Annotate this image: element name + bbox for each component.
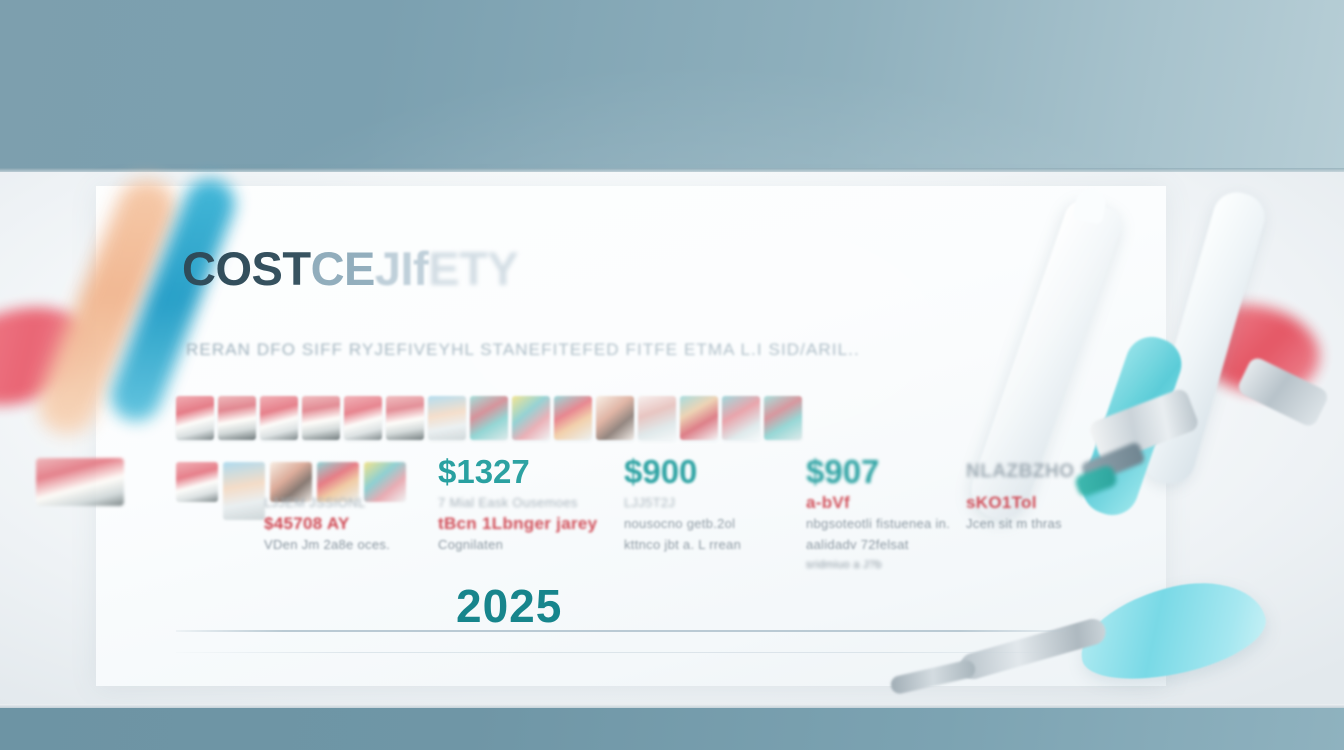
page-title-faded-2: JIf [375, 242, 428, 295]
cost-column-4-price: NLAZBZHO [966, 452, 1096, 492]
cost-column-1: $13277 Mial Eask OusemoestBcn 1Lbnger ja… [438, 452, 618, 555]
cost-column-left-caption-3: VDen Jm 2a8e oces. [264, 534, 440, 555]
mixed-thumb-9-icon [512, 396, 550, 440]
page-title-solid: COST [182, 242, 311, 295]
soft-light-overlay [0, 0, 1344, 750]
cost-column-3-caption-2: nbgsoteotli fistuenea in. [806, 513, 976, 534]
cost-column-1-price: $1327 [438, 452, 618, 492]
cost-columns: LJJEM JSSIONL$45708 AYVDen Jm 2a8e oces.… [176, 452, 1076, 622]
cost-column-left: LJJEM JSSIONL$45708 AYVDen Jm 2a8e oces. [264, 452, 440, 555]
divider-primary [176, 630, 1066, 632]
cost-column-2-caption-3: kttnco jbt a. L rrean [624, 534, 804, 555]
lesion-thumb-13-icon [680, 396, 718, 440]
cost-column-3-caption-4: sridmiuo a J?b [806, 555, 976, 576]
cost-column-2-price: $900 [624, 452, 804, 492]
gum-thumb-2-icon [218, 396, 256, 440]
tool-thumb-11-icon [596, 396, 634, 440]
cost-column-1-caption-2: tBcn 1Lbnger jarey [438, 513, 618, 534]
cost-column-2-caption-1: LJJ5T2J [624, 492, 804, 513]
gum-thumb-4-icon [302, 396, 340, 440]
page-title-faded-3: ETY [428, 242, 518, 295]
cost-column-4: NLAZBZHOsKO1TolJcen sit m thras [966, 452, 1096, 534]
cost-column-1-caption-3: Cognilaten [438, 534, 618, 555]
cost-column-left-caption-2: $45708 AY [264, 513, 440, 534]
cost-column-2: $900LJJ5T2Jnousocno getb.2olkttnco jbt a… [624, 452, 804, 555]
page-subtitle: RERAN DFO SIFF RYJEFIVEYHL STANEFITEFED … [186, 340, 1066, 360]
infographic-content: COSTCEJIfETY RERAN DFO SIFF RYJEFIVEYHL … [0, 0, 1344, 750]
gum-thumb-3-icon [260, 396, 298, 440]
year-label: 2025 [456, 580, 562, 632]
cost-column-4-caption-1: sKO1Tol [966, 492, 1096, 513]
teal-thumb-8-icon [470, 396, 508, 440]
divider-secondary [176, 652, 1066, 653]
cost-column-3-caption-1: a-bVf [806, 492, 976, 513]
cost-column-3-caption-3: aalidadv 72felsat [806, 534, 976, 555]
page-title-faded-1: CE [311, 242, 375, 295]
pale-thumb-12-icon [638, 396, 676, 440]
red-thumb-10-icon [554, 396, 592, 440]
final-thumb-15-icon [764, 396, 802, 440]
edge-thumb-14-icon [722, 396, 760, 440]
cost-column-3-price: $907 [806, 452, 976, 492]
sky-thumb-7-icon [428, 396, 466, 440]
cost-column-1-caption-1: 7 Mial Eask Ousemoes [438, 492, 618, 513]
thumbnail-strip [176, 396, 1076, 444]
cost-column-2-caption-2: nousocno getb.2ol [624, 513, 804, 534]
cost-column-3: $907a-bVfnbgsoteotli fistuenea in.aalida… [806, 452, 976, 576]
gum-thumb-1-icon [176, 396, 214, 440]
cost-column-4-caption-2: Jcen sit m thras [966, 513, 1096, 534]
cost-column-left-price-spacer [264, 452, 440, 492]
loose-thumbnail-left [36, 458, 124, 506]
teeth-thumb-6-icon [386, 396, 424, 440]
cost-column-left-caption-1: LJJEM JSSIONL [264, 492, 440, 513]
gum-thumb-5-icon [344, 396, 382, 440]
page-title: COSTCEJIfETY [182, 238, 1062, 300]
